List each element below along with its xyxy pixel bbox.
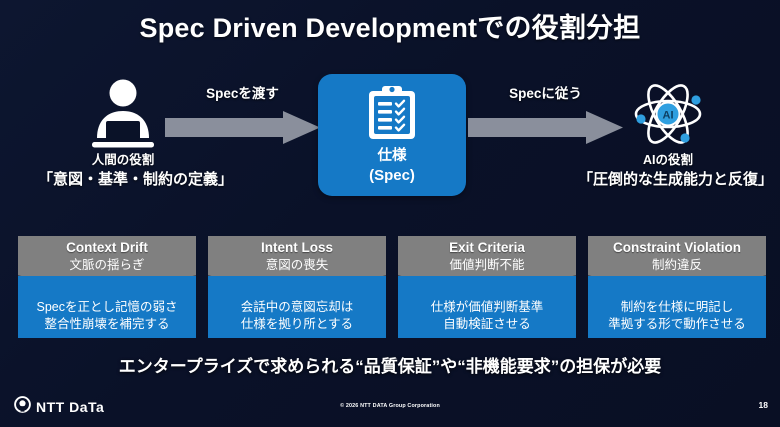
card-title-jp: 制約違反: [588, 257, 766, 273]
card-body-line2: 自動検証させる: [443, 316, 531, 333]
issue-card: Intent Loss 意図の喪失 会話中の意図忘却は 仕様を拠り所とする: [208, 236, 386, 338]
card-body: 制約を仕様に明記し 準拠する形で動作させる: [588, 276, 766, 338]
card-body-line1: 会話中の意図忘却は: [241, 299, 354, 316]
issue-card-list: Context Drift 文脈の揺らぎ Specを正とし記憶の弱さ 整合性崩壊…: [18, 236, 766, 338]
arrow-left-label: Specを渡す: [165, 82, 320, 102]
card-body-line1: Specを正とし記憶の弱さ: [37, 299, 178, 316]
svg-text:AI: AI: [663, 110, 674, 122]
ai-caption-line2: 「圧倒的な生成能力と反復」: [578, 170, 758, 190]
card-title-jp: 文脈の揺らぎ: [18, 257, 196, 273]
issue-card: Context Drift 文脈の揺らぎ Specを正とし記憶の弱さ 整合性崩壊…: [18, 236, 196, 338]
slide-root: Spec Driven Developmentでの役割分担 人間の役割 「意図・…: [0, 0, 780, 427]
card-body: Specを正とし記憶の弱さ 整合性崩壊を補完する: [18, 276, 196, 338]
issue-card: Constraint Violation 制約違反 制約を仕様に明記し 準拠する…: [588, 236, 766, 338]
spec-label-line2: (Spec): [369, 166, 415, 185]
spec-label-line1: 仕様: [378, 148, 407, 164]
spec-box: 仕様 (Spec): [318, 74, 466, 196]
human-caption-line2: 「意図・基準・制約の定義」: [38, 170, 208, 190]
card-title-en: Intent Loss: [208, 240, 386, 257]
human-caption-line1: 人間の役割: [92, 153, 155, 167]
card-title-en: Context Drift: [18, 240, 196, 257]
human-role-caption: 人間の役割 「意図・基準・制約の定義」: [38, 152, 208, 189]
issue-card: Exit Criteria 価値判断不能 仕様が価値判断基準 自動検証させる: [398, 236, 576, 338]
card-body-line1: 仕様が価値判断基準: [431, 299, 544, 316]
ai-caption-line1: AIの役割: [643, 153, 693, 167]
atom-ai-icon: AI: [578, 76, 758, 152]
page-number: 18: [759, 400, 768, 410]
summary-banner: エンタープライズで求められる“品質保証”や“非機能要求”の担保が必要: [0, 352, 780, 377]
arrow-right-icon: [165, 111, 320, 144]
ai-role-node: AI AIの役割 「圧倒的な生成能力と反復」: [578, 76, 758, 189]
spec-label: 仕様 (Spec): [369, 147, 415, 185]
copyright-text: © 2026 NTT DATA Group Corporation: [0, 403, 780, 409]
card-body-line2: 整合性崩壊を補完する: [44, 316, 169, 333]
clipboard-checklist-icon: [365, 85, 419, 142]
card-title-en: Exit Criteria: [398, 240, 576, 257]
card-body: 会話中の意図忘却は 仕様を拠り所とする: [208, 276, 386, 338]
card-title-jp: 価値判断不能: [398, 257, 576, 273]
page-title: Spec Driven Developmentでの役割分担: [0, 6, 780, 45]
card-body-line1: 制約を仕様に明記し: [621, 299, 734, 316]
card-title-en: Constraint Violation: [588, 240, 766, 257]
card-body-line2: 仕様を拠り所とする: [241, 316, 353, 333]
slide-footer: NTT DaTa © 2026 NTT DATA Group Corporati…: [0, 387, 780, 427]
ai-role-caption: AIの役割 「圧倒的な生成能力と反復」: [578, 152, 758, 189]
card-body-line2: 準拠する形で動作させる: [608, 316, 746, 333]
card-body: 仕様が価値判断基準 自動検証させる: [398, 276, 576, 338]
card-title-jp: 意図の喪失: [208, 257, 386, 273]
